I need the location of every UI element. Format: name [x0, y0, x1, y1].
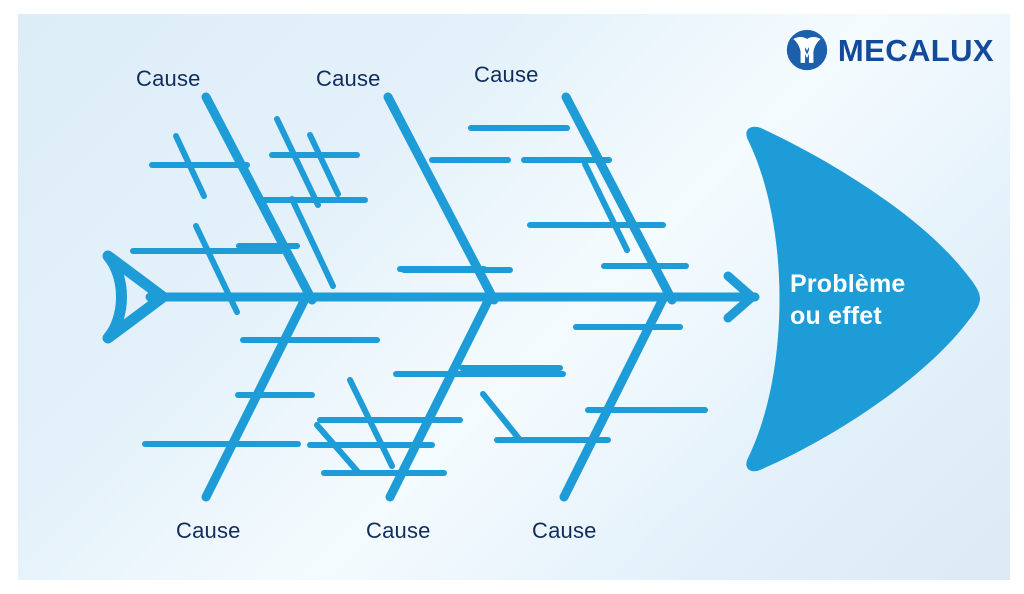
diagram-canvas: Cause Cause Cause Cause Cause Cause Prob… [0, 0, 1024, 594]
cause-label-top-2[interactable]: Cause [316, 66, 381, 92]
cause-label-top-1[interactable]: Cause [136, 66, 201, 92]
cause-label-top-3[interactable]: Cause [474, 62, 539, 88]
branch-bottom-3 [462, 297, 705, 497]
branch-bottom-1 [145, 297, 377, 497]
cause-label-bottom-3[interactable]: Cause [532, 518, 597, 544]
cause-label-bottom-1[interactable]: Cause [176, 518, 241, 544]
mecalux-logo-icon [785, 28, 829, 72]
cause-label-bottom-2[interactable]: Cause [366, 518, 431, 544]
problem-effect-label: Problème ou effet [790, 268, 990, 332]
brand-name: MECALUX [838, 35, 994, 66]
brand-logo[interactable]: MECALUX [785, 28, 994, 72]
branch-bottom-2 [310, 270, 563, 497]
